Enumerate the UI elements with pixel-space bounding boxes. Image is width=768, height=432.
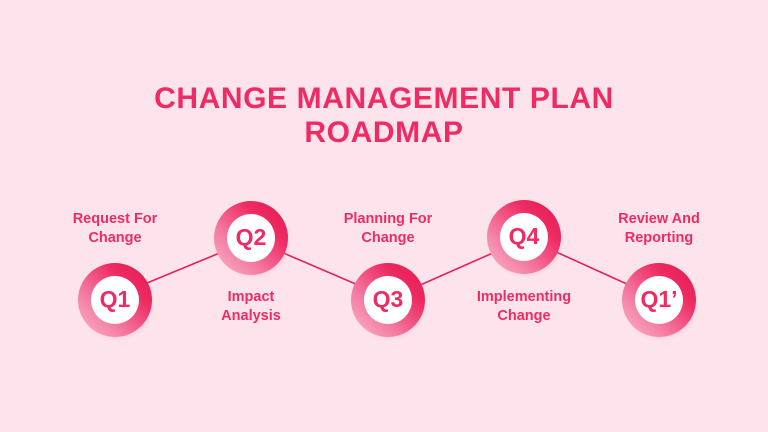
- step-node-q2[interactable]: Q2: [214, 201, 292, 280]
- step-label-q1-prime: Review And Reporting: [574, 210, 744, 248]
- step-label-q4: Implementing Change: [439, 288, 609, 326]
- step-label-q2-line2: Analysis: [166, 307, 336, 326]
- node-code-q2: Q2: [236, 224, 267, 250]
- step-label-q3-line2: Change: [303, 229, 473, 248]
- node-code-q1: Q1: [100, 286, 131, 312]
- step-label-q3-line1: Planning For: [303, 210, 473, 229]
- step-label-q4-line1: Implementing: [439, 288, 609, 307]
- step-label-q1-prime-line1: Review And: [574, 210, 744, 229]
- step-label-q4-line2: Change: [439, 307, 609, 326]
- connector-q3-q4: [418, 252, 495, 286]
- step-label-q2: Impact Analysis: [166, 288, 336, 326]
- step-label-q3: Planning For Change: [303, 210, 473, 248]
- step-label-q1: Request For Change: [30, 210, 200, 248]
- step-label-q1-line1: Request For: [30, 210, 200, 229]
- connector-q1-q2: [147, 252, 222, 283]
- infographic-canvas: CHANGE MANAGEMENT PLAN ROADMAP: [0, 0, 768, 432]
- node-code-q3: Q3: [373, 286, 404, 312]
- step-node-q4[interactable]: Q4: [487, 200, 565, 279]
- connector-q4-q5: [554, 251, 629, 285]
- step-label-q2-line1: Impact: [166, 288, 336, 307]
- step-node-q1[interactable]: Q1: [78, 263, 156, 342]
- connector-q2-q3: [281, 252, 358, 285]
- step-label-q1-prime-line2: Reporting: [574, 229, 744, 248]
- node-code-q4: Q4: [509, 223, 540, 249]
- step-node-q3[interactable]: Q3: [351, 263, 429, 342]
- step-label-q1-line2: Change: [30, 229, 200, 248]
- node-code-q1-prime: Q1’: [640, 286, 677, 312]
- step-node-q1-prime[interactable]: Q1’: [622, 263, 700, 342]
